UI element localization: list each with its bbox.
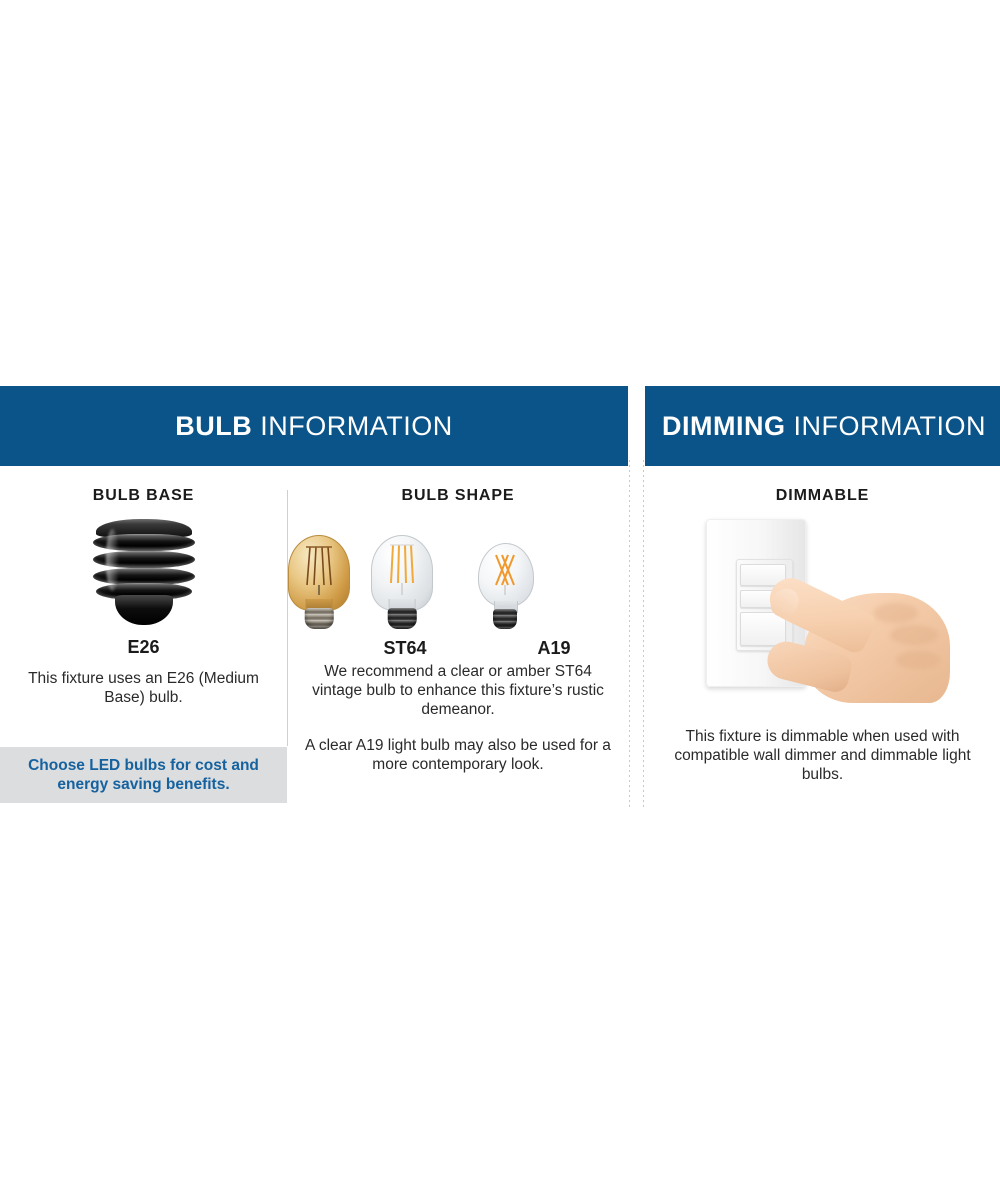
a19-clear-bulb (476, 525, 534, 629)
hand-finger-tip (764, 583, 804, 623)
e26-base-image (90, 519, 198, 625)
st64-caption: ST64 (383, 638, 426, 659)
hand-knuckle-3 (896, 651, 940, 669)
bulb-title-strong: BULB (175, 411, 252, 441)
bulb-shape-column: BULB SHAPE (288, 466, 628, 774)
led-tip-text: Choose LED bulbs for cost and energy sav… (0, 756, 287, 794)
st64-clear-screw-base (388, 608, 417, 629)
st64-clear-bulb (371, 517, 433, 629)
dimming-title-space (785, 411, 793, 441)
dimmable-column: DIMMABLE (645, 466, 1000, 784)
st64-amber-bulb (288, 517, 350, 629)
bulb-shape-images (288, 517, 628, 629)
bulb-base-column: BULB BASE E26 This fixture uses an E26 (… (0, 466, 287, 707)
a19-screw-base (493, 609, 517, 629)
a19-glass (478, 543, 534, 607)
bulb-shape-description-2: A clear A19 light bulb may also be used … (288, 736, 628, 774)
e26-highlight (106, 529, 119, 591)
bulb-information-panel: BULB INFORMATION BULB BASE E26 This fixt… (0, 386, 628, 816)
bulb-information-title: BULB INFORMATION (175, 411, 453, 442)
a19-caption: A19 (537, 638, 570, 659)
wall-dimmer-image (698, 511, 948, 707)
bulb-shape-description-1: We recommend a clear or amber ST64 vinta… (288, 662, 628, 719)
bulb-title-light-word: INFORMATION (260, 411, 452, 441)
hand-illustration (762, 563, 948, 707)
bulb-base-description: This fixture uses an E26 (Medium Base) b… (0, 669, 287, 707)
e26-contact-tip (115, 595, 173, 625)
hand-knuckle-2 (890, 625, 938, 645)
bulb-shape-captions: ST64 A19 (288, 638, 628, 662)
bulb-shape-heading: BULB SHAPE (288, 466, 628, 505)
bulb-and-dimming-information-board: BULB INFORMATION BULB BASE E26 This fixt… (0, 386, 1000, 816)
dimming-information-panel: DIMMING INFORMATION DIMMABLE (645, 386, 1000, 816)
panel-separator-right (643, 460, 644, 808)
dimmable-description: This fixture is dimmable when used with … (645, 727, 1000, 784)
panel-separator-left (629, 460, 630, 808)
dimming-information-title: DIMMING INFORMATION (662, 411, 986, 442)
e26-label: E26 (0, 637, 287, 658)
bulb-base-heading: BULB BASE (0, 466, 287, 505)
dimming-information-header: DIMMING INFORMATION (645, 386, 1000, 466)
led-tip-callout: Choose LED bulbs for cost and energy sav… (0, 747, 287, 803)
bulb-information-header: BULB INFORMATION (0, 386, 628, 466)
dimming-title-light-word: INFORMATION (794, 411, 986, 441)
dimming-title-strong: DIMMING (662, 411, 785, 441)
st64-amber-screw-base (305, 608, 334, 629)
dimmable-heading: DIMMABLE (645, 466, 1000, 505)
hand-knuckle-1 (874, 603, 918, 623)
